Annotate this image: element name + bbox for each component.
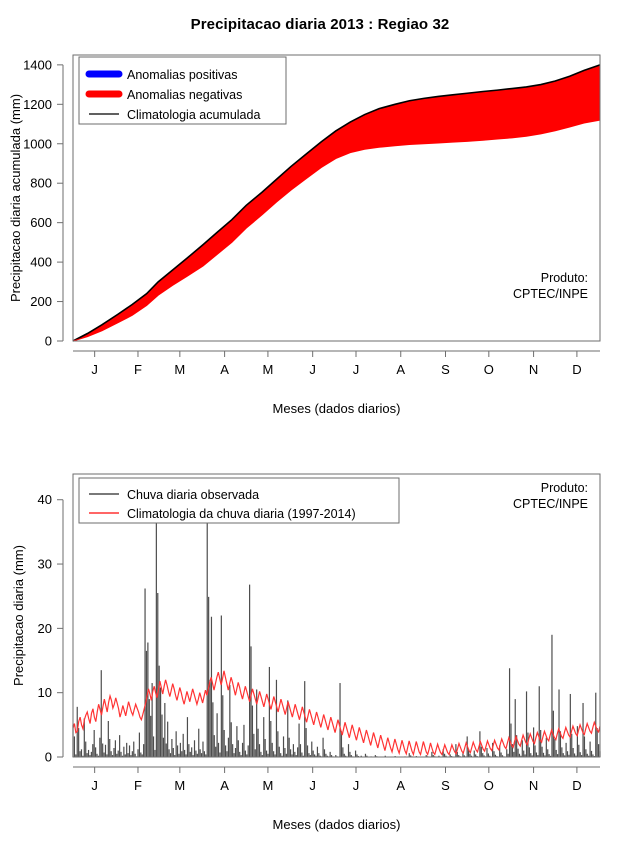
y-tick-label: 600 xyxy=(30,215,52,230)
produto-line: Produto: xyxy=(541,271,588,285)
accumulated-precipitation-chart: 0200400600800100012001400Precipitacao di… xyxy=(0,36,640,455)
legend-label: Anomalias positivas xyxy=(127,68,237,82)
y-tick-label: 200 xyxy=(30,294,52,309)
y-axis: 010203040Precipitacao diaria (mm) xyxy=(11,492,63,764)
x-tick-label: J xyxy=(91,362,98,377)
x-tick-label: M xyxy=(262,362,273,377)
legend-label: Climatologia da chuva diaria (1997-2014) xyxy=(127,507,356,521)
page-title: Precipitacao diaria 2013 : Regiao 32 xyxy=(0,16,640,33)
produto-annotation: Produto:CPTEC/INPE xyxy=(513,481,588,511)
y-tick-label: 400 xyxy=(30,255,52,270)
legend: Anomalias positivasAnomalias negativasCl… xyxy=(79,57,286,124)
x-tick-label: O xyxy=(484,362,494,377)
y-tick-label: 0 xyxy=(45,750,52,765)
y-tick-label: 10 xyxy=(38,685,52,700)
x-tick-label: J xyxy=(353,362,360,377)
x-tick-label: J xyxy=(353,778,360,793)
x-tick-label: F xyxy=(134,362,142,377)
legend: Chuva diaria observadaClimatologia da ch… xyxy=(79,478,399,523)
precipitation-report-page: Precipitacao diaria 2013 : Regiao 32 020… xyxy=(0,0,640,850)
legend-label: Climatologia acumulada xyxy=(127,108,260,122)
y-axis-title: Precipitacao diaria (mm) xyxy=(11,545,26,686)
produto-line: Produto: xyxy=(541,481,588,495)
produto-line: CPTEC/INPE xyxy=(513,497,588,511)
observed-daily-bars xyxy=(73,519,600,757)
x-tick-label: J xyxy=(309,778,316,793)
produto-annotation: Produto:CPTEC/INPE xyxy=(513,271,588,301)
y-tick-label: 20 xyxy=(38,621,52,636)
y-tick-label: 40 xyxy=(38,492,52,507)
x-tick-label: M xyxy=(174,778,185,793)
y-axis-title: Precipitacao diaria acumulada (mm) xyxy=(8,94,23,302)
x-tick-label: S xyxy=(441,362,450,377)
x-tick-label: F xyxy=(134,778,142,793)
daily-chart-svg: 010203040Precipitacao diaria (mm)JFMAMJJ… xyxy=(0,455,640,850)
daily-precipitation-chart: 010203040Precipitacao diaria (mm)JFMAMJJ… xyxy=(0,455,640,850)
x-tick-label: A xyxy=(220,778,229,793)
legend-label: Anomalias negativas xyxy=(127,88,242,102)
x-tick-label: M xyxy=(174,362,185,377)
y-tick-label: 30 xyxy=(38,557,52,572)
x-axis-title: Meses (dados diarios) xyxy=(273,817,401,832)
legend-label: Chuva diaria observada xyxy=(127,488,259,502)
x-tick-label: J xyxy=(309,362,316,377)
x-axis: JFMAMJJASONDMeses (dados diarios) xyxy=(73,767,600,832)
y-tick-label: 0 xyxy=(45,334,52,349)
x-tick-label: N xyxy=(529,362,538,377)
x-tick-label: A xyxy=(396,778,405,793)
produto-line: CPTEC/INPE xyxy=(513,287,588,301)
x-tick-label: M xyxy=(262,778,273,793)
x-tick-label: S xyxy=(441,778,450,793)
y-tick-label: 1000 xyxy=(23,136,52,151)
x-tick-label: O xyxy=(484,778,494,793)
x-tick-label: D xyxy=(572,362,581,377)
x-tick-label: A xyxy=(396,362,405,377)
x-tick-label: J xyxy=(91,778,98,793)
x-axis: JFMAMJJASONDMeses (dados diarios) xyxy=(73,351,600,416)
x-axis-title: Meses (dados diarios) xyxy=(273,401,401,416)
x-tick-label: A xyxy=(220,362,229,377)
x-tick-label: D xyxy=(572,778,581,793)
y-tick-label: 1200 xyxy=(23,97,52,112)
y-tick-label: 800 xyxy=(30,176,52,191)
y-axis: 0200400600800100012001400Precipitacao di… xyxy=(8,57,63,348)
x-tick-label: N xyxy=(529,778,538,793)
accumulated-chart-svg: 0200400600800100012001400Precipitacao di… xyxy=(0,36,640,455)
y-tick-label: 1400 xyxy=(23,57,52,72)
